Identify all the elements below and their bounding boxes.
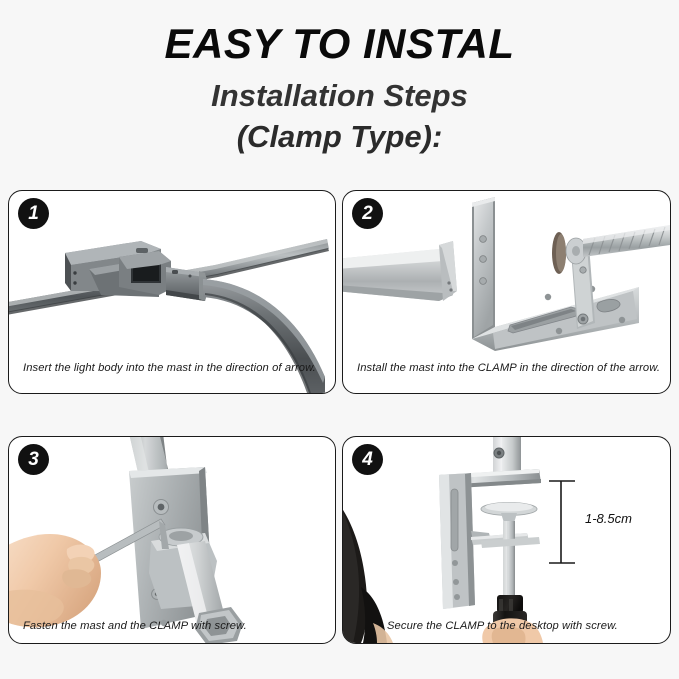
step-panel-4: 1-8.5cm 4 Secure the CLAMP to the deskto… xyxy=(342,436,671,644)
step-badge-3: 3 xyxy=(19,445,48,474)
step-panel-2: 2 Install the mast into the CLAMP in the… xyxy=(342,190,671,394)
step-badge-1: 1 xyxy=(19,199,48,228)
step-caption-2: Install the mast into the CLAMP in the d… xyxy=(357,361,662,375)
page-title: EASY TO INSTAL xyxy=(0,22,679,66)
page-subtitle-line-1: Installation Steps xyxy=(0,80,679,113)
fasten-with-allen-key-illustration xyxy=(9,437,335,643)
step-panel-3: 3 Fasten the mast and the CLAMP with scr… xyxy=(8,436,336,644)
step-badge-2: 2 xyxy=(353,199,382,228)
step-caption-4: Secure the CLAMP to the desktop with scr… xyxy=(387,619,662,633)
step-panel-1: 1 Insert the light body into the mast in… xyxy=(8,190,336,394)
dimension-label: 1-8.5cm xyxy=(585,511,632,526)
page-subtitle-line-2: (Clamp Type): xyxy=(0,121,679,154)
step-caption-3: Fasten the mast and the CLAMP with screw… xyxy=(23,619,327,633)
step-caption-1: Insert the light body into the mast in t… xyxy=(23,361,327,375)
step-badge-4: 4 xyxy=(353,445,382,474)
secure-clamp-to-desktop-illustration xyxy=(343,437,670,643)
header: EASY TO INSTAL Installation Steps (Clamp… xyxy=(0,0,679,180)
